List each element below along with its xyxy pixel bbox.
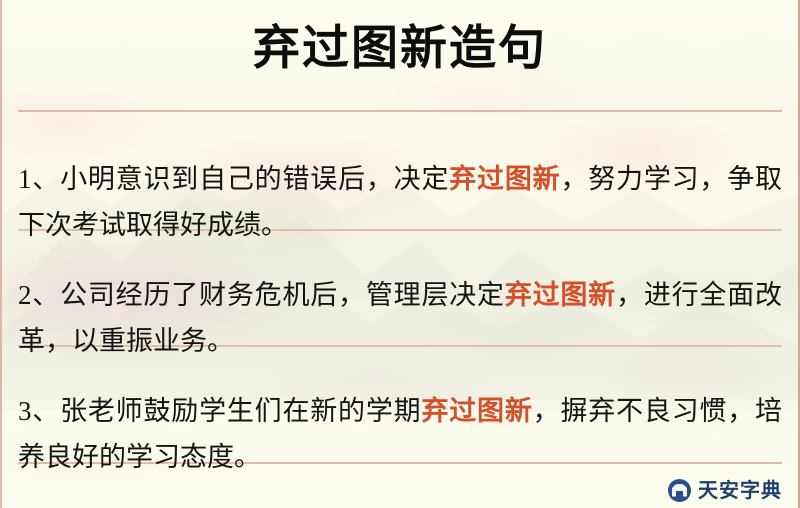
page-title: 弃过图新造句 <box>2 18 798 80</box>
example-sentence-1: 1、小明意识到自己的错误后，决定弃过图新，努力学习，争取下次考试取得好成绩。 <box>18 156 782 248</box>
page-root: 弃过图新造句 1、小明意识到自己的错误后，决定弃过图新，努力学习，争取下次考试取… <box>0 0 800 508</box>
sentence-number-1: 1、 <box>18 164 60 194</box>
content-area: 弃过图新造句 1、小明意识到自己的错误后，决定弃过图新，努力学习，争取下次考试取… <box>2 0 798 508</box>
idiom-highlight-3: 弃过图新 <box>421 396 532 426</box>
brand-watermark: 天安字典 <box>668 478 782 502</box>
sentence-number-3: 3、 <box>18 396 60 426</box>
sentence-text-before-3: 张老师鼓励学生们在新的学期 <box>60 396 421 426</box>
idiom-highlight-2: 弃过图新 <box>505 280 616 310</box>
sentence-text-before-2: 公司经历了财务危机后，管理层决定 <box>60 280 505 310</box>
dictionary-seal-icon <box>668 479 691 502</box>
example-sentence-2: 2、公司经历了财务危机后，管理层决定弃过图新，进行全面改革，以重振业务。 <box>18 272 782 364</box>
idiom-highlight-1: 弃过图新 <box>449 164 560 194</box>
sentence-text-before-1: 小明意识到自己的错误后，决定 <box>60 164 449 194</box>
divider-top <box>18 110 782 112</box>
sentence-number-2: 2、 <box>18 280 60 310</box>
example-sentence-3: 3、张老师鼓励学生们在新的学期弃过图新，摒弃不良习惯，培养良好的学习态度。 <box>18 388 782 480</box>
brand-name: 天安字典 <box>698 478 782 502</box>
